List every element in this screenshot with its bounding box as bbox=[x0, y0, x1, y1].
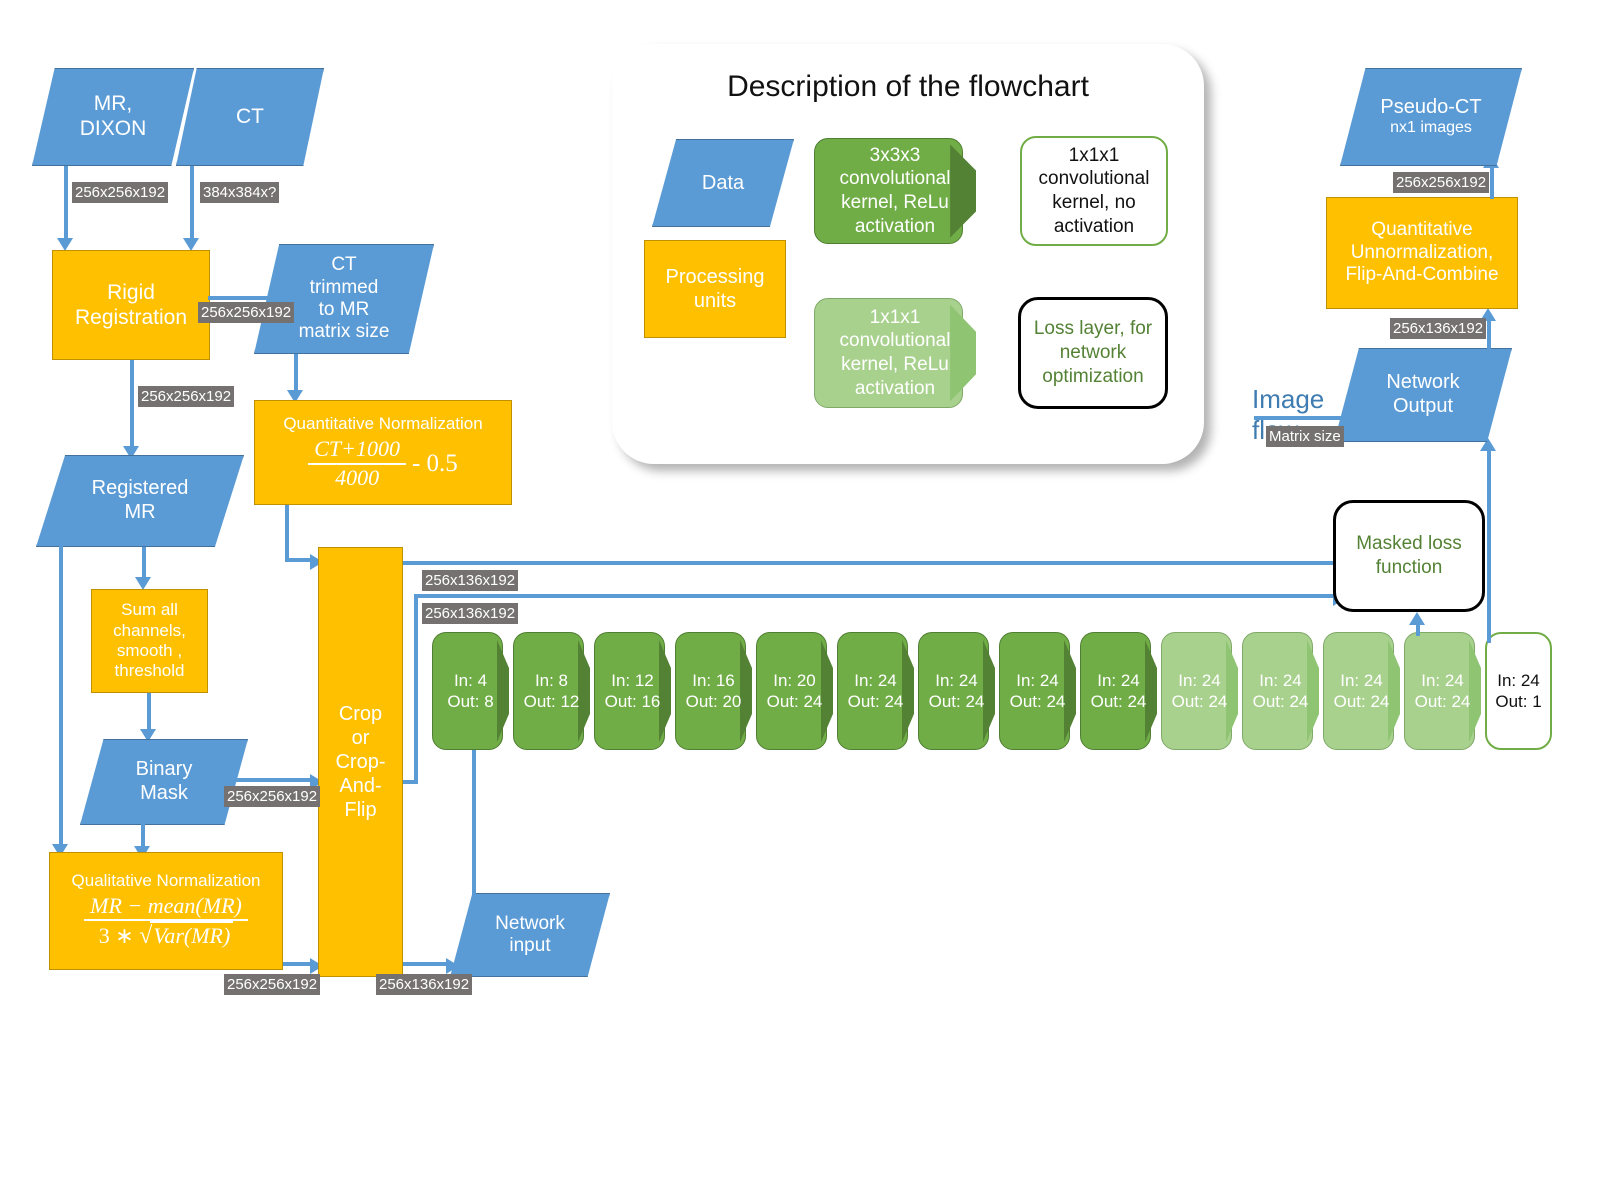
qual-norm-numerator: MR − mean(MR) bbox=[84, 893, 248, 919]
conv-layer-out: Out: 1 bbox=[1495, 691, 1541, 712]
network-input-line2: input bbox=[495, 935, 565, 957]
conv-layer-in: In: 24 bbox=[1334, 670, 1390, 691]
ct-trimmed-line2: trimmed bbox=[299, 277, 390, 299]
legend-image-flow-arrowhead bbox=[1370, 411, 1383, 427]
conv-layer-in: In: 24 bbox=[1495, 670, 1541, 691]
legend-processing-line2: units bbox=[666, 289, 765, 313]
conv-layer-in: In: 24 bbox=[1172, 670, 1228, 691]
node-quantitative-normalization: Quantitative Normalization CT+1000 4000 … bbox=[254, 400, 512, 505]
masked-loss-line2: function bbox=[1356, 556, 1462, 580]
registered-mr-line1: Registered bbox=[92, 477, 189, 501]
conv-layer-out: Out: 8 bbox=[447, 691, 493, 712]
matrix-label-crop-to-loss-bottom: 256x136x192 bbox=[422, 603, 518, 624]
conv-layer-out: Out: 24 bbox=[767, 691, 823, 712]
legend-data-label: Data bbox=[702, 172, 744, 195]
legend-image-flow-arrow bbox=[1254, 416, 1372, 420]
quant-unnorm-line3: Flip-And-Combine bbox=[1345, 264, 1498, 287]
ct-trimmed-line4: matrix size bbox=[299, 321, 390, 343]
arrow-crop-to-loss-stub bbox=[403, 780, 418, 784]
legend-processing-swatch: Processing units bbox=[644, 240, 786, 338]
legend-conv1x1x1-relu-swatch: 1x1x1 convolutional kernel, ReLu activat… bbox=[814, 298, 976, 408]
arrow-quantnorm-to-crop-vert bbox=[285, 505, 289, 560]
conv-layer-9: In: 24Out: 24 bbox=[1080, 632, 1157, 750]
network-output-line1: Network bbox=[1386, 371, 1459, 395]
matrix-label-crop-to-input: 256x136x192 bbox=[376, 974, 472, 995]
masked-loss-line1: Masked loss bbox=[1356, 532, 1462, 556]
arrow-crop-to-loss-top bbox=[403, 561, 1340, 565]
node-quantitative-unnormalization: Quantitative Unnormalization, Flip-And-C… bbox=[1326, 197, 1518, 309]
quant-unnorm-line2: Unnormalization, bbox=[1345, 242, 1498, 265]
arrow-binarymask-to-crop bbox=[228, 778, 316, 782]
node-sum-all-channels: Sum all channels, smooth , threshold bbox=[91, 589, 208, 693]
arrow-registeredmr-to-qualnorm bbox=[59, 540, 63, 848]
arrow-mr-to-rigid bbox=[64, 166, 68, 240]
node-binary-mask: Binary Mask bbox=[80, 739, 248, 825]
legend-matrix-size-label: Matrix size bbox=[1266, 426, 1344, 447]
node-registered-mr: Registered MR bbox=[36, 455, 244, 547]
node-ct-trimmed: CT trimmed to MR matrix size bbox=[254, 244, 434, 354]
quant-norm-tail: - 0.5 bbox=[412, 449, 458, 479]
crop-flip-line4: And- bbox=[335, 774, 385, 798]
conv-layer-out: Out: 24 bbox=[1415, 691, 1471, 712]
binary-mask-line2: Mask bbox=[136, 782, 193, 806]
arrowhead-lastlayer-to-loss bbox=[1409, 612, 1425, 625]
arrow-cttrim-to-quantnorm bbox=[294, 354, 298, 392]
quant-norm-title: Quantitative Normalization bbox=[255, 414, 511, 434]
flowchart-canvas: MR, DIXON CT 256x256x192 384x384x? Rigid… bbox=[0, 0, 1600, 1200]
conv-layer-out: Out: 12 bbox=[524, 691, 580, 712]
arrow-unnorm-to-pseudoct bbox=[1490, 165, 1494, 199]
legend-data-swatch: Data bbox=[652, 139, 794, 227]
conv-layer-in: In: 20 bbox=[767, 670, 823, 691]
legend-title: Description of the flowchart bbox=[612, 70, 1204, 104]
conv-layer-in: In: 12 bbox=[605, 670, 661, 691]
conv-layer-4: In: 16Out: 20 bbox=[675, 632, 752, 750]
legend-panel: Description of the flowchart Data Proces… bbox=[612, 44, 1204, 464]
legend-processing-line1: Processing bbox=[666, 265, 765, 289]
matrix-label-unnorm-to-pseudoct: 256x256x192 bbox=[1393, 172, 1489, 193]
matrix-label-crop-to-loss-top: 256x136x192 bbox=[422, 570, 518, 591]
conv-layer-in: In: 4 bbox=[447, 670, 493, 691]
matrix-label-output-to-unnorm: 256x136x192 bbox=[1390, 318, 1486, 339]
qual-norm-title: Qualitative Normalization bbox=[50, 871, 282, 891]
conv-layer-10: In: 24Out: 24 bbox=[1161, 632, 1238, 750]
network-input-line1: Network bbox=[495, 913, 565, 935]
node-mr-dixon: MR, DIXON bbox=[32, 68, 194, 166]
sum-all-line1: Sum all bbox=[113, 600, 186, 620]
network-output-line2: Output bbox=[1386, 395, 1459, 419]
qual-norm-denom-sqrt: Var(MR) bbox=[150, 921, 233, 949]
registered-mr-line2: MR bbox=[92, 501, 189, 525]
conv-layer-in: In: 24 bbox=[1010, 670, 1066, 691]
conv-layer-in: In: 24 bbox=[848, 670, 904, 691]
node-crop-or-crop-and-flip: Crop or Crop- And- Flip bbox=[318, 547, 403, 977]
conv-layer-out: Out: 20 bbox=[686, 691, 742, 712]
matrix-label-qualnorm-to-crop: 256x256x192 bbox=[224, 974, 320, 995]
matrix-label-ct-to-rigid: 384x384x? bbox=[200, 182, 279, 203]
crop-flip-line3: Crop- bbox=[335, 750, 385, 774]
conv-layer-out: Out: 24 bbox=[1253, 691, 1309, 712]
arrow-crop-to-loss-vert bbox=[414, 594, 418, 784]
network-layer-chain: In: 4Out: 8In: 8Out: 12In: 12Out: 16In: … bbox=[432, 632, 1542, 752]
conv-layer-out: Out: 16 bbox=[605, 691, 661, 712]
conv-layer-14: In: 24Out: 1 bbox=[1485, 632, 1552, 750]
arrow-lastlayer-to-network-output bbox=[1487, 448, 1491, 643]
conv-layer-out: Out: 24 bbox=[1172, 691, 1228, 712]
ct-trimmed-line3: to MR bbox=[299, 299, 390, 321]
conv-layer-3: In: 12Out: 16 bbox=[594, 632, 671, 750]
crop-flip-line2: or bbox=[335, 726, 385, 750]
node-masked-loss-function: Masked loss function bbox=[1333, 500, 1485, 612]
matrix-label-rigid-to-registered: 256x256x192 bbox=[138, 386, 234, 407]
legend-conv3x3x3-swatch: 3x3x3 convolutional kernel, ReLu activat… bbox=[814, 138, 976, 244]
conv-layer-in: In: 24 bbox=[1253, 670, 1309, 691]
qual-norm-denom-prefix: 3 ∗ bbox=[99, 923, 134, 948]
rigid-registration-line1: Rigid bbox=[75, 280, 187, 305]
node-network-output: Network Output bbox=[1334, 348, 1512, 442]
ct-label: CT bbox=[236, 105, 264, 130]
conv-layer-in: In: 24 bbox=[1091, 670, 1147, 691]
arrow-sumall-to-binarymask bbox=[147, 693, 151, 731]
conv-layer-out: Out: 24 bbox=[848, 691, 904, 712]
conv-layer-2: In: 8Out: 12 bbox=[513, 632, 590, 750]
sum-all-line3: smooth , bbox=[113, 641, 186, 661]
legend-conv3-label: 3x3x3 convolutional kernel, ReLu activat… bbox=[814, 144, 976, 239]
arrow-crop-to-loss-bottom bbox=[414, 594, 1340, 598]
node-qualitative-normalization: Qualitative Normalization MR − mean(MR) … bbox=[49, 852, 283, 970]
rigid-registration-line2: Registration bbox=[75, 305, 187, 330]
sum-all-line2: channels, bbox=[113, 621, 186, 641]
matrix-label-mask-to-crop: 256x256x192 bbox=[224, 786, 320, 807]
arrow-ct-to-rigid bbox=[190, 166, 194, 240]
conv-layer-out: Out: 24 bbox=[1010, 691, 1066, 712]
mr-dixon-line2: DIXON bbox=[80, 117, 147, 142]
conv-layer-in: In: 24 bbox=[1415, 670, 1471, 691]
conv-layer-1: In: 4Out: 8 bbox=[432, 632, 509, 750]
conv-layer-out: Out: 24 bbox=[929, 691, 985, 712]
legend-conv1-noact-label: 1x1x1 convolutional kernel, no activatio… bbox=[1022, 144, 1166, 239]
binary-mask-line1: Binary bbox=[136, 758, 193, 782]
quant-norm-numerator: CT+1000 bbox=[308, 436, 406, 462]
quant-unnorm-line1: Quantitative bbox=[1345, 219, 1498, 242]
legend-conv1x1x1-noact-swatch: 1x1x1 convolutional kernel, no activatio… bbox=[1020, 136, 1168, 246]
quant-norm-denominator: 4000 bbox=[308, 463, 406, 491]
node-ct: CT bbox=[176, 68, 324, 166]
node-network-input: Network input bbox=[450, 893, 610, 977]
conv-layer-in: In: 16 bbox=[686, 670, 742, 691]
conv-layer-in: In: 24 bbox=[929, 670, 985, 691]
legend-loss-swatch: Loss layer, for network optimization bbox=[1018, 297, 1168, 409]
matrix-label-rigid-to-cttrim: 256x256x192 bbox=[198, 302, 294, 323]
arrow-registeredmr-to-sumall bbox=[142, 547, 146, 579]
pseudo-ct-line2: nx1 images bbox=[1380, 119, 1481, 138]
conv-layer-5: In: 20Out: 24 bbox=[756, 632, 833, 750]
conv-layer-6: In: 24Out: 24 bbox=[837, 632, 914, 750]
conv-layer-12: In: 24Out: 24 bbox=[1323, 632, 1400, 750]
conv-layer-in: In: 8 bbox=[524, 670, 580, 691]
conv-layer-11: In: 24Out: 24 bbox=[1242, 632, 1319, 750]
matrix-label-mr-to-rigid: 256x256x192 bbox=[72, 182, 168, 203]
sum-all-line4: threshold bbox=[113, 661, 186, 681]
pseudo-ct-line1: Pseudo-CT bbox=[1380, 96, 1481, 120]
node-pseudo-ct: Pseudo-CT nx1 images bbox=[1340, 68, 1522, 166]
crop-flip-line1: Crop bbox=[335, 702, 385, 726]
mr-dixon-line1: MR, bbox=[80, 92, 147, 117]
legend-loss-label: Loss layer, for network optimization bbox=[1021, 317, 1165, 388]
arrow-output-to-unnorm bbox=[1487, 318, 1491, 356]
conv-layer-8: In: 24Out: 24 bbox=[999, 632, 1076, 750]
node-rigid-registration: Rigid Registration bbox=[52, 250, 210, 360]
ct-trimmed-line1: CT bbox=[299, 254, 390, 276]
conv-layer-13: In: 24Out: 24 bbox=[1404, 632, 1481, 750]
arrow-rigid-to-registered-mr bbox=[130, 360, 134, 448]
conv-layer-7: In: 24Out: 24 bbox=[918, 632, 995, 750]
conv-layer-out: Out: 24 bbox=[1334, 691, 1390, 712]
conv-layer-out: Out: 24 bbox=[1091, 691, 1147, 712]
legend-conv1-relu-label: 1x1x1 convolutional kernel, ReLu activat… bbox=[814, 306, 976, 401]
crop-flip-line5: Flip bbox=[335, 798, 385, 822]
